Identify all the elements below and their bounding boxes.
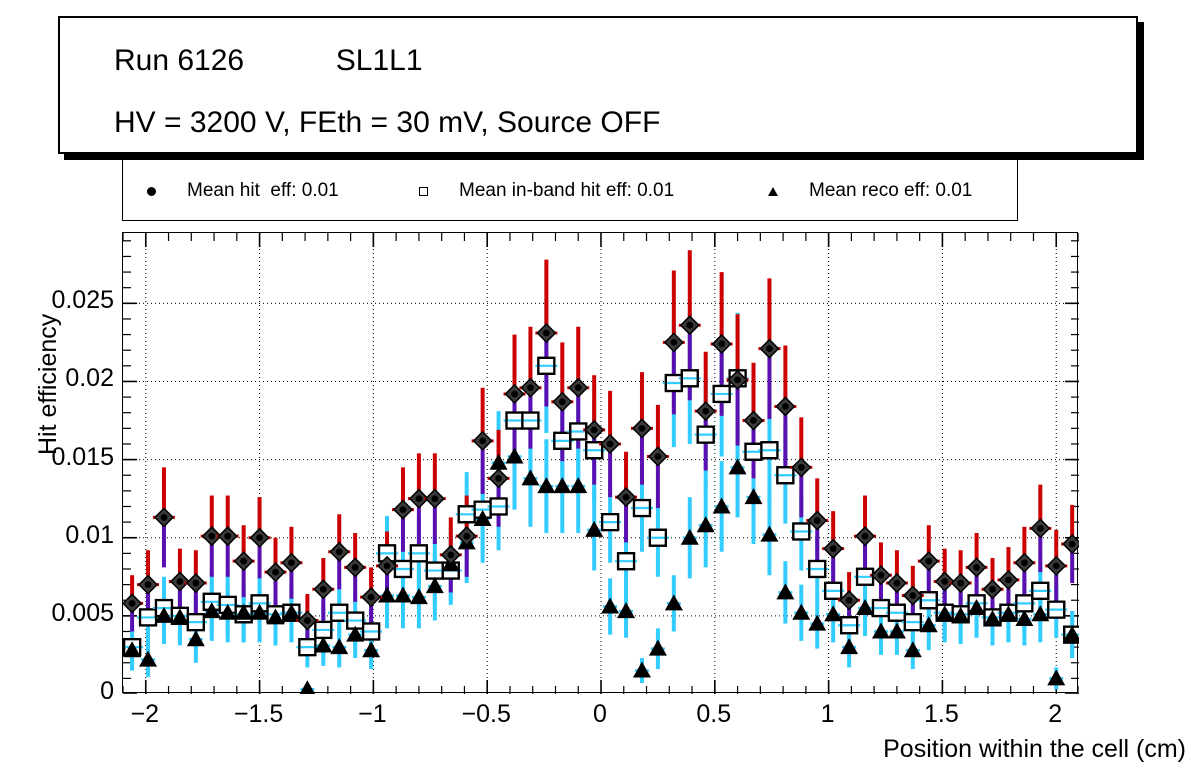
x-tick-label: 0.5 xyxy=(674,700,754,729)
x-tick-label: −0.5 xyxy=(446,700,526,729)
open-square-icon xyxy=(405,160,441,222)
filled-triangle-icon xyxy=(755,160,791,222)
x-tick-label: 1 xyxy=(788,700,868,729)
title-line-conditions: HV = 3200 V, FEth = 30 mV, Source OFF xyxy=(114,106,660,140)
filled-circle-icon xyxy=(133,160,169,222)
legend-label-inband-hit-eff: Mean in-band hit eff: 0.01 xyxy=(441,180,674,202)
legend-entry-inband-hit-eff: Mean in-band hit eff: 0.01 xyxy=(405,160,674,222)
canvas: Run 6126 SL1L1 HV = 3200 V, FEth = 30 mV… xyxy=(0,0,1196,772)
y-tick-label: 0.025 xyxy=(51,286,114,315)
x-tick-label: 2 xyxy=(1015,700,1095,729)
title-line-run: Run 6126 SL1L1 xyxy=(114,44,423,78)
y-tick-label: 0.005 xyxy=(51,599,114,628)
x-tick-label: −2 xyxy=(105,700,185,729)
plot-frame xyxy=(122,232,1078,693)
legend-entry-reco-eff: Mean reco eff: 0.01 xyxy=(755,160,972,222)
title-box: Run 6126 SL1L1 HV = 3200 V, FEth = 30 mV… xyxy=(58,16,1138,154)
x-axis-title: Position within the cell (cm) xyxy=(883,735,1186,764)
y-tick-label: 0.01 xyxy=(65,521,114,550)
scatter-plot xyxy=(123,233,1079,694)
x-tick-label: 0 xyxy=(560,700,640,729)
legend-label-reco-eff: Mean reco eff: 0.01 xyxy=(791,180,972,202)
y-axis-title: Hit efficiency xyxy=(34,314,63,455)
x-tick-label: −1.5 xyxy=(219,700,299,729)
x-tick-label: −1 xyxy=(332,700,412,729)
y-tick-label: 0.02 xyxy=(65,364,114,393)
legend-entry-hit-eff: Mean hit eff: 0.01 xyxy=(133,160,339,222)
legend: Mean hit eff: 0.01 Mean in-band hit eff:… xyxy=(122,159,1018,221)
legend-label-hit-eff: Mean hit eff: 0.01 xyxy=(169,180,339,202)
x-tick-label: 1.5 xyxy=(901,700,981,729)
